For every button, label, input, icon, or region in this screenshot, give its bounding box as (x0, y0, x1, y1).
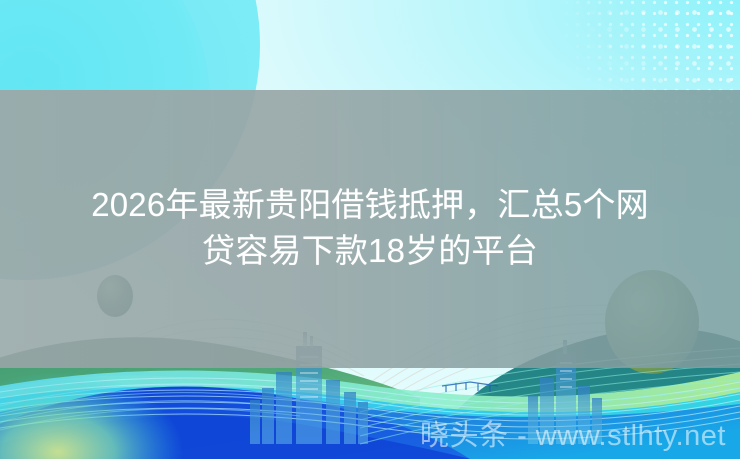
article-banner: 2026年最新贵阳借钱抵押，汇总5个网 贷容易下款18岁的平台 晓头条 - ww… (0, 0, 740, 459)
page-title: 2026年最新贵阳借钱抵押，汇总5个网 贷容易下款18岁的平台 (0, 182, 740, 274)
